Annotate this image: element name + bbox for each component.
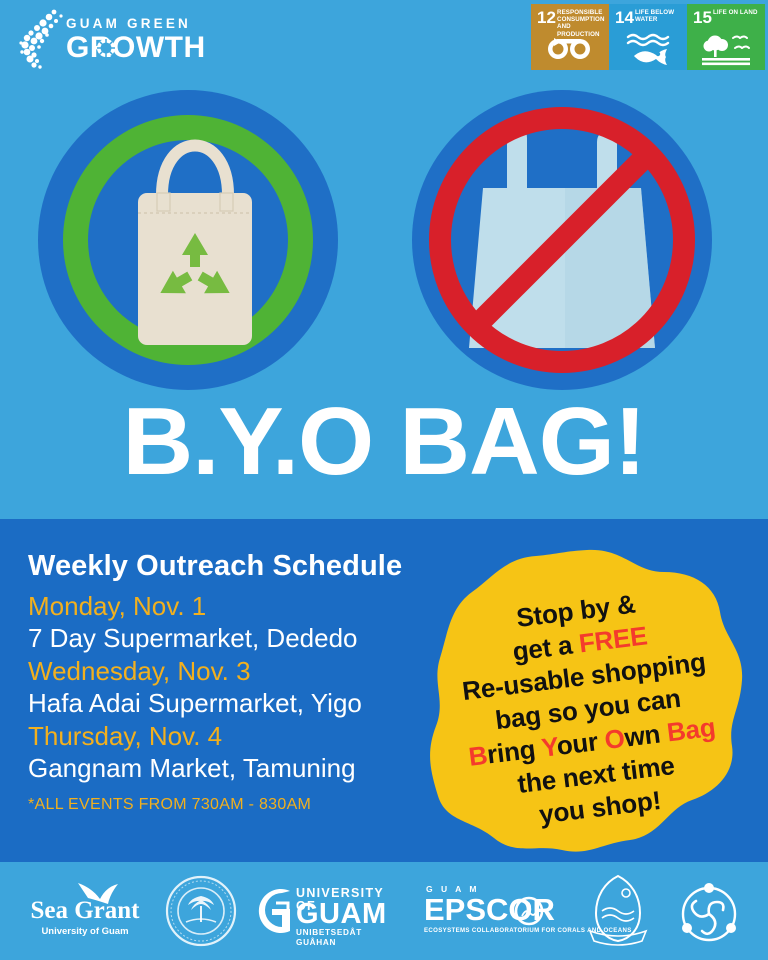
infinity-arrow-icon bbox=[531, 30, 609, 68]
seas-islands-alliance-logo bbox=[670, 872, 748, 950]
schedule-block: Weekly Outreach Schedule Monday, Nov. 1 … bbox=[28, 548, 448, 816]
poster-root: GUAM GREEN GROWTH bbox=[0, 0, 768, 960]
schedule-day: Monday, Nov. 1 bbox=[28, 590, 448, 622]
uog-subtitle: UNIBETSEDÅT GUÅHAN bbox=[296, 928, 402, 948]
sun-gear-icon bbox=[96, 38, 116, 58]
seal-palm-icon bbox=[164, 874, 238, 948]
uog-monogram-icon bbox=[252, 883, 294, 941]
university-of-guam-logo: UNIVERSITY OF GUAM UNIBETSEDÅT GUÅHAN bbox=[252, 880, 402, 942]
sea-grant-subtitle: University of Guam bbox=[20, 926, 150, 937]
uog-wordmark: GUAM bbox=[296, 898, 387, 930]
guam-green-growth-logo: GUAM GREEN GROWTH bbox=[18, 8, 218, 72]
governor-seal-logo bbox=[164, 874, 238, 948]
guam-epa-logo bbox=[580, 871, 656, 951]
guam-epscor-logo: G U A M EPSCOR ECOSYSTEMS COLLABORATORIU… bbox=[416, 880, 566, 942]
sea-grant-wordmark: Sea Grant bbox=[20, 897, 150, 924]
epa-shield-icon bbox=[580, 871, 656, 951]
schedule-day: Wednesday, Nov. 3 bbox=[28, 655, 448, 687]
brand-line-2: GROWTH bbox=[66, 32, 206, 64]
schedule-entry: Thursday, Nov. 4 Gangnam Market, Tamunin… bbox=[28, 720, 448, 785]
sdg-label: LIFE ON LAND bbox=[713, 9, 762, 16]
reusable-tote-bag-recycle-icon bbox=[130, 105, 260, 375]
schedule-entry: Wednesday, Nov. 3 Hafa Adai Supermarket,… bbox=[28, 655, 448, 720]
schedule-day: Thursday, Nov. 4 bbox=[28, 720, 448, 752]
prohibition-sign-icon bbox=[424, 102, 700, 378]
sdg-tile-15: 15 LIFE ON LAND bbox=[687, 4, 765, 70]
sdg-goals-group: 12 RESPONSIBLE CONSUMPTION AND PRODUCTIO… bbox=[531, 4, 765, 70]
sdg-tile-14: 14 LIFE BELOW WATER bbox=[609, 4, 687, 70]
sea-grant-logo: Sea Grant University of Guam bbox=[20, 877, 150, 945]
seas-spiral-icon bbox=[670, 872, 748, 950]
badge-ring: ring bbox=[485, 733, 543, 769]
brand-wordmark: GROWTH bbox=[66, 31, 206, 64]
badge-our: our bbox=[555, 725, 607, 761]
schedule-place: Hafa Adai Supermarket, Yigo bbox=[28, 687, 448, 720]
badge-word-bag: Bag bbox=[665, 712, 717, 748]
sdg-label: LIFE BELOW WATER bbox=[635, 9, 684, 23]
badge-copy: Stop by & get a FREE Re-usable shopping … bbox=[429, 577, 747, 842]
sdg-number: 14 bbox=[615, 9, 634, 26]
badge-wn: wn bbox=[623, 718, 669, 753]
fish-waves-icon bbox=[609, 30, 687, 68]
schedule-title: Weekly Outreach Schedule bbox=[28, 548, 448, 584]
free-bag-badge: Stop by & get a FREE Re-usable shopping … bbox=[428, 546, 746, 858]
partner-logos: Sea Grant University of Guam UNIV bbox=[0, 862, 768, 960]
brand-line-1: GUAM GREEN bbox=[66, 16, 206, 31]
schedule-place: 7 Day Supermarket, Dededo bbox=[28, 622, 448, 655]
sdg-number: 12 bbox=[537, 9, 556, 26]
sdg-number: 15 bbox=[693, 9, 712, 26]
coral-o-icon bbox=[514, 896, 544, 926]
schedule-entry: Monday, Nov. 1 7 Day Supermarket, Dededo bbox=[28, 590, 448, 655]
schedule-place: Gangnam Market, Tamuning bbox=[28, 752, 448, 785]
schedule-note: *ALL EVENTS FROM 730AM - 830AM bbox=[28, 794, 448, 816]
page-title: B.Y.O BAG! bbox=[0, 392, 768, 492]
tree-birds-icon bbox=[687, 30, 765, 68]
sdg-tile-12: 12 RESPONSIBLE CONSUMPTION AND PRODUCTIO… bbox=[531, 4, 609, 70]
